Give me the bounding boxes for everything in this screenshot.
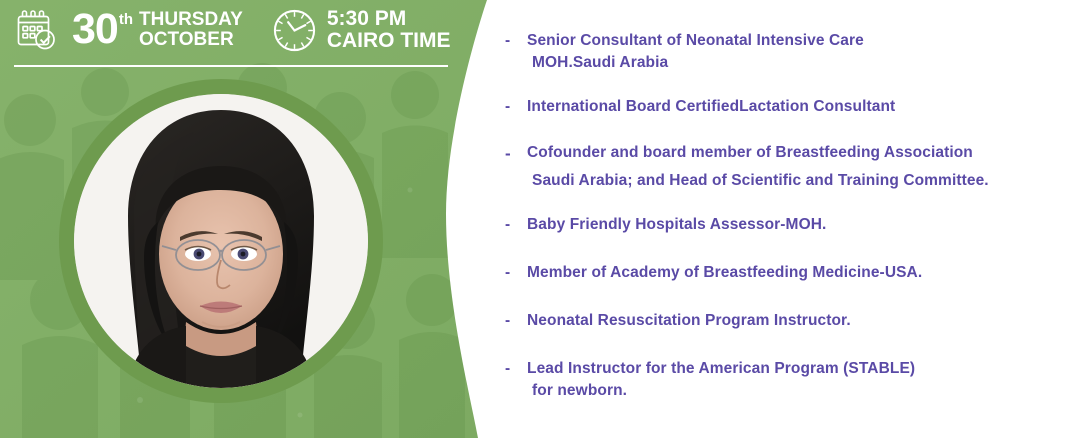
credential-item: - Member of Academy of Breastfeeding Med…	[505, 262, 1070, 284]
credential-line: Cofounder and board member of Breastfeed…	[527, 142, 1070, 164]
credential-line: Member of Academy of Breastfeeding Medic…	[527, 262, 1070, 284]
calendar-check-icon	[14, 9, 60, 53]
header-divider	[14, 65, 448, 67]
bullet-dash: -	[505, 310, 527, 332]
credential-item: - Senior Consultant of Neonatal Intensiv…	[505, 30, 1070, 74]
credential-text: International Board CertifiedLactation C…	[527, 96, 1070, 118]
bullet-dash: -	[505, 30, 527, 52]
credential-item: - Neonatal Resuscitation Program Instruc…	[505, 310, 1070, 332]
bullet-dash: -	[505, 358, 527, 380]
bullet-dash: -	[505, 142, 527, 166]
event-time: 5:30 PM CAIRO TIME	[327, 8, 451, 53]
clock-icon	[271, 7, 318, 54]
credential-line: for newborn.	[527, 380, 1070, 402]
event-month: OCTOBER	[139, 30, 243, 50]
credential-line: International Board CertifiedLactation C…	[527, 96, 1070, 118]
event-header-row: 30 th THURSDAY OCTOBER	[0, 0, 470, 60]
credential-text: Lead Instructor for the American Program…	[527, 358, 1070, 402]
speaker-portrait-ring	[59, 79, 383, 403]
credential-line: Senior Consultant of Neonatal Intensive …	[527, 30, 1070, 52]
event-timezone-label: CAIRO TIME	[327, 30, 451, 52]
credential-line: MOH.Saudi Arabia	[527, 52, 1070, 74]
credential-line: Saudi Arabia; and Head of Scientific and…	[527, 170, 1070, 192]
event-date: 30 th THURSDAY OCTOBER	[72, 9, 243, 50]
credential-text: Member of Academy of Breastfeeding Medic…	[527, 262, 1070, 284]
credential-item: - International Board CertifiedLactation…	[505, 96, 1070, 118]
event-weekday: THURSDAY	[139, 10, 243, 30]
speaker-portrait-frame	[74, 94, 368, 388]
credential-item: - Cofounder and board member of Breastfe…	[505, 142, 1070, 192]
credential-text: Baby Friendly Hospitals Assessor-MOH.	[527, 214, 1070, 236]
credential-item: - Baby Friendly Hospitals Assessor-MOH.	[505, 214, 1070, 236]
credential-line: Neonatal Resuscitation Program Instructo…	[527, 310, 1070, 332]
credential-line: Lead Instructor for the American Program…	[527, 358, 1070, 380]
credential-text: Neonatal Resuscitation Program Instructo…	[527, 310, 1070, 332]
credentials-list: - Senior Consultant of Neonatal Intensiv…	[505, 22, 1070, 432]
bullet-dash: -	[505, 214, 527, 236]
credential-text: Senior Consultant of Neonatal Intensive …	[527, 30, 1070, 74]
event-day-ordinal: th	[119, 12, 133, 27]
credential-item: - Lead Instructor for the American Progr…	[505, 358, 1070, 402]
event-clock-time: 5:30 PM	[327, 8, 451, 30]
speaker-portrait-photo	[74, 94, 368, 388]
speaker-credentials-banner: 30 th THURSDAY OCTOBER	[0, 0, 1080, 438]
event-day-number: 30	[72, 9, 118, 50]
bullet-dash: -	[505, 96, 527, 118]
event-date-words: THURSDAY OCTOBER	[139, 10, 243, 49]
bullet-dash: -	[505, 262, 527, 284]
credential-text: Cofounder and board member of Breastfeed…	[527, 142, 1070, 192]
credential-line: Baby Friendly Hospitals Assessor-MOH.	[527, 214, 1070, 236]
